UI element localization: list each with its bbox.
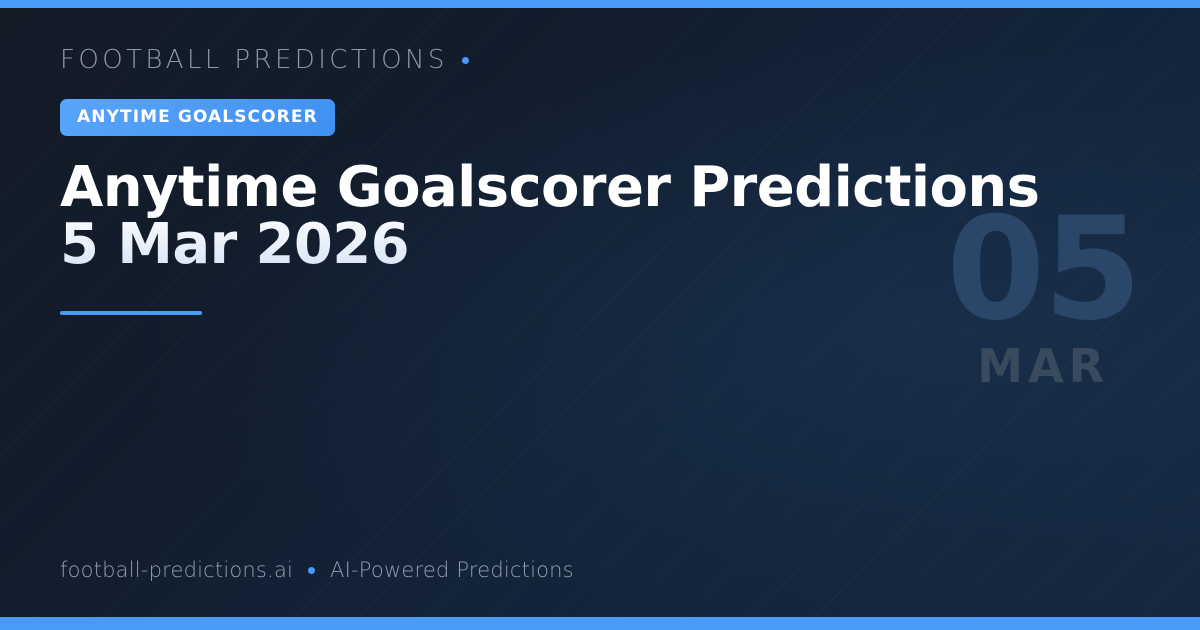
site-url[interactable]: football-predictions.ai <box>60 558 293 582</box>
top-accent-bar <box>0 0 1200 8</box>
blue-dot-icon <box>308 567 315 574</box>
blue-dot-icon <box>462 57 469 64</box>
eyebrow-label: FOOTBALL PREDICTIONS <box>60 45 448 75</box>
accent-underline <box>60 311 202 315</box>
page-title: Anytime Goalscorer Predictions 5 Mar 202… <box>60 159 1045 273</box>
footer-tagline: AI-Powered Predictions <box>330 558 574 582</box>
content-area: FOOTBALL PREDICTIONS ANYTIME GOALSCORER … <box>60 40 1060 315</box>
footer: football-predictions.ai AI-Powered Predi… <box>60 558 574 582</box>
bottom-accent-bar <box>0 617 1200 630</box>
og-banner-card: 05 MAR FOOTBALL PREDICTIONS ANYTIME GOAL… <box>0 0 1200 630</box>
category-badge[interactable]: ANYTIME GOALSCORER <box>60 99 335 136</box>
eyebrow-row: FOOTBALL PREDICTIONS <box>60 40 1060 80</box>
